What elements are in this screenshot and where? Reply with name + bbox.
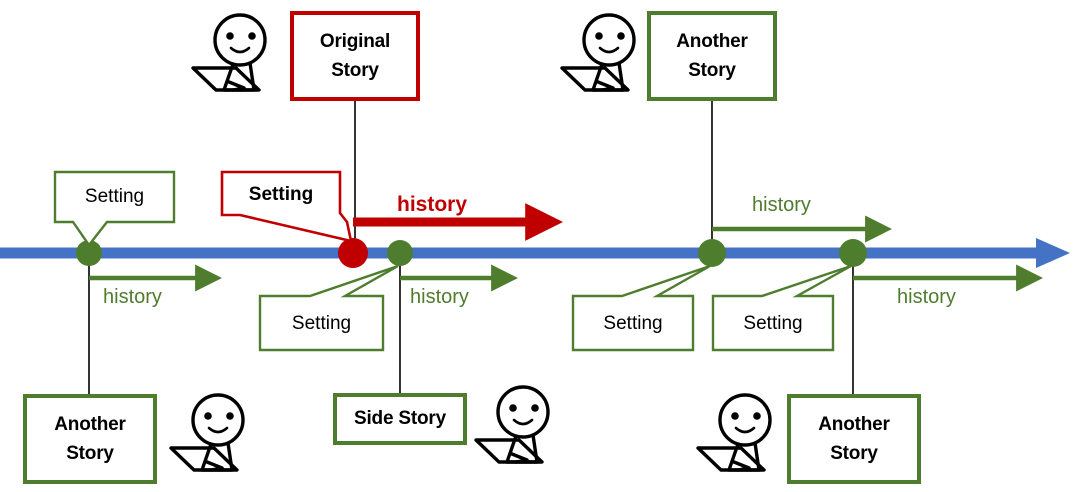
node-dot-5[interactable] [839, 239, 867, 267]
timeline-axis [0, 238, 1070, 268]
person-icon-3 [171, 395, 243, 470]
setting-callout-3[interactable] [260, 266, 398, 350]
story-label-line1: Another [54, 410, 125, 439]
node-dot-2[interactable] [338, 238, 368, 268]
node-dot-4[interactable] [698, 239, 726, 267]
story-label-line1: Original [320, 27, 390, 56]
setting-callout-5[interactable] [713, 266, 851, 350]
setting-callout-1[interactable] [55, 172, 174, 245]
setting-callout-2[interactable] [222, 172, 351, 241]
story-label-line1: Another [818, 410, 889, 439]
history-label-4: history [752, 194, 811, 217]
person-icon-1 [193, 15, 265, 90]
person-icon-4 [476, 387, 548, 462]
story-box-original-story[interactable]: Original Story [290, 11, 420, 101]
story-label-line2: Story [688, 56, 736, 85]
node-dot-3[interactable] [387, 240, 413, 266]
story-label-line1: Another [676, 27, 747, 56]
story-label-line2: Story [331, 56, 379, 85]
history-label-1: history [103, 286, 162, 309]
story-box-another-story-bottom-right[interactable]: Another Story [787, 394, 921, 484]
story-label-line2: Story [66, 439, 114, 468]
diagram-vector-layer [0, 0, 1084, 492]
story-box-another-story-top-right[interactable]: Another Story [647, 11, 777, 101]
setting-callout-4[interactable] [573, 266, 710, 350]
history-label-2: history [397, 193, 467, 217]
timeline-arrowhead [1036, 238, 1070, 268]
history-label-5: history [897, 286, 956, 309]
story-box-another-story-bottom-left[interactable]: Another Story [23, 394, 157, 484]
story-box-side-story[interactable]: Side Story [333, 393, 467, 445]
person-icon-5 [698, 395, 770, 470]
person-icon-2 [562, 15, 634, 90]
story-label-line1: Side Story [354, 404, 446, 433]
story-timeline-diagram: Original Story Another Story Another Sto… [0, 0, 1084, 492]
history-label-3: history [410, 286, 469, 309]
story-label-line2: Story [830, 439, 878, 468]
